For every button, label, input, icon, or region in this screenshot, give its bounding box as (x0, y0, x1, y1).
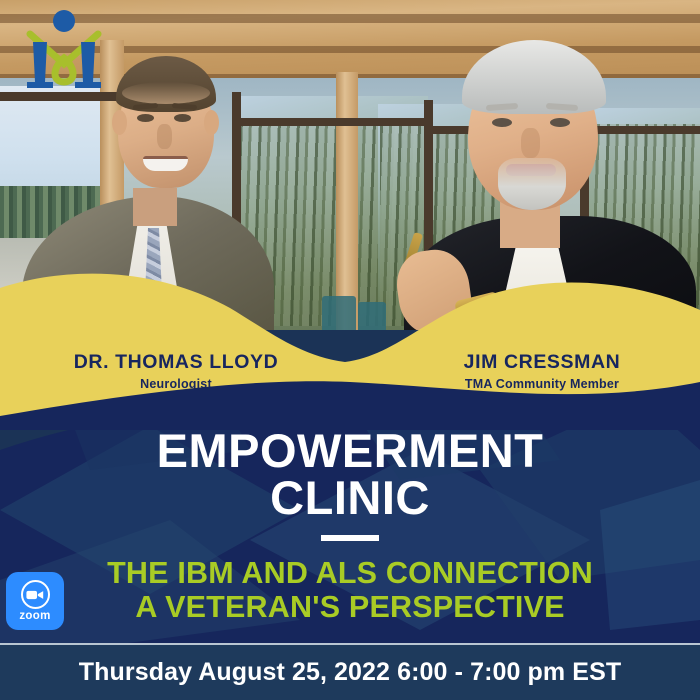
date-bar-divider (0, 643, 700, 645)
speaker-1-name: DR. THOMAS LLOYD (26, 352, 326, 373)
zoom-wordmark: zoom (19, 610, 50, 622)
speaker-2-role: TMA Community Member (392, 377, 692, 391)
video-camera-icon (21, 580, 50, 609)
empowerment-clinic-flyer: DR. THOMAS LLOYD Neurologist JIM CRESSMA… (0, 0, 700, 700)
speaker-1-role: Neurologist (26, 377, 326, 391)
subtitle-line-2: A VETERAN'S PERSPECTIVE (0, 590, 700, 624)
speaker-2-name: JIM CRESSMAN (392, 352, 692, 373)
speaker-2-block: JIM CRESSMAN TMA Community Member (392, 352, 692, 391)
title-line-1: EMPOWERMENT (0, 428, 700, 474)
speaker-names: DR. THOMAS LLOYD Neurologist JIM CRESSMA… (0, 352, 700, 412)
window-mullion (232, 118, 432, 126)
title-divider (321, 535, 379, 541)
event-title: EMPOWERMENT CLINIC (0, 428, 700, 522)
zoom-platform-badge[interactable]: zoom (6, 572, 64, 630)
event-subtitle: THE IBM AND ALS CONNECTION A VETERAN'S P… (0, 556, 700, 624)
event-datetime: Thursday August 25, 2022 6:00 - 7:00 pm … (79, 658, 621, 687)
event-datetime-bar: Thursday August 25, 2022 6:00 - 7:00 pm … (0, 645, 700, 700)
title-line-2: CLINIC (0, 474, 700, 522)
subtitle-line-1: THE IBM AND ALS CONNECTION (0, 556, 700, 590)
speaker-1-block: DR. THOMAS LLOYD Neurologist (26, 352, 326, 391)
tma-logo (16, 8, 112, 94)
